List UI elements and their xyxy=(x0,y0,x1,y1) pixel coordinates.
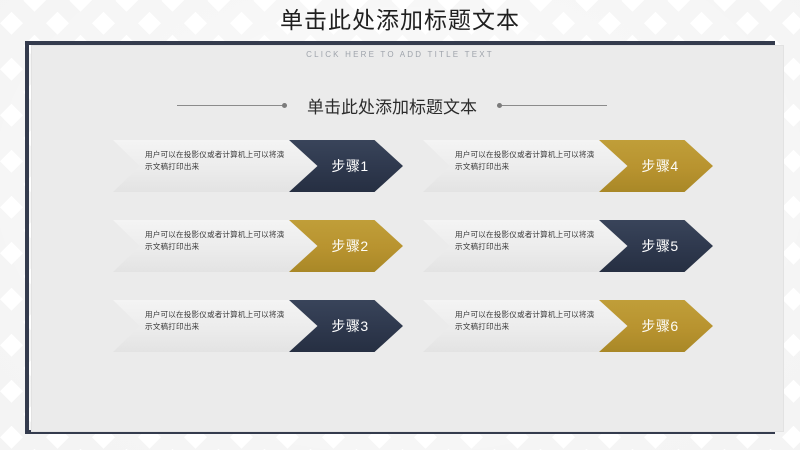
step-item[interactable]: 用户可以在投影仪或者计算机上可以将演示文稿打印出来 步骤6 xyxy=(423,300,713,352)
step-item[interactable]: 用户可以在投影仪或者计算机上可以将演示文稿打印出来 步骤3 xyxy=(113,300,403,352)
heading-dot-left-icon xyxy=(282,103,287,108)
step-description: 用户可以在投影仪或者计算机上可以将演示文稿打印出来 xyxy=(455,149,595,172)
slide-subtitle: CLICK HERE TO ADD TITLE TEXT xyxy=(0,50,800,59)
section-heading-text: 单击此处添加标题文本 xyxy=(291,93,493,118)
step-description: 用户可以在投影仪或者计算机上可以将演示文稿打印出来 xyxy=(145,229,285,252)
step-label: 步骤4 xyxy=(641,156,678,176)
step-label: 步骤6 xyxy=(641,316,678,336)
step-item[interactable]: 用户可以在投影仪或者计算机上可以将演示文稿打印出来 步骤1 xyxy=(113,140,403,192)
step-item[interactable]: 用户可以在投影仪或者计算机上可以将演示文稿打印出来 步骤4 xyxy=(423,140,713,192)
step-description: 用户可以在投影仪或者计算机上可以将演示文稿打印出来 xyxy=(145,149,285,172)
step-description: 用户可以在投影仪或者计算机上可以将演示文稿打印出来 xyxy=(455,309,595,332)
heading-dot-right-icon xyxy=(497,103,502,108)
slide-title-band: 单击此处添加标题文本 xyxy=(0,0,800,41)
step-item[interactable]: 用户可以在投影仪或者计算机上可以将演示文稿打印出来 步骤5 xyxy=(423,220,713,272)
step-description: 用户可以在投影仪或者计算机上可以将演示文稿打印出来 xyxy=(145,309,285,332)
step-label: 步骤5 xyxy=(641,236,678,256)
steps-grid: 用户可以在投影仪或者计算机上可以将演示文稿打印出来 步骤1 用户可以在投影仪或者… xyxy=(113,140,713,362)
step-label: 步骤1 xyxy=(331,156,368,176)
step-item[interactable]: 用户可以在投影仪或者计算机上可以将演示文稿打印出来 步骤2 xyxy=(113,220,403,272)
heading-rule-left xyxy=(177,105,287,106)
slide-title: 单击此处添加标题文本 xyxy=(0,0,800,40)
step-description: 用户可以在投影仪或者计算机上可以将演示文稿打印出来 xyxy=(455,229,595,252)
step-label: 步骤2 xyxy=(331,236,368,256)
heading-rule-right xyxy=(497,105,607,106)
step-label: 步骤3 xyxy=(331,316,368,336)
section-heading: 单击此处添加标题文本 xyxy=(32,88,752,122)
